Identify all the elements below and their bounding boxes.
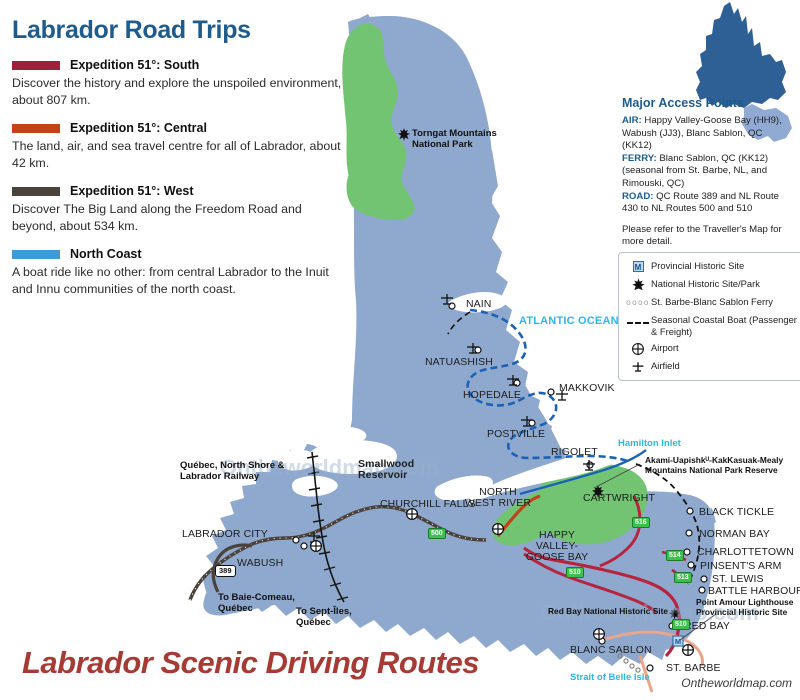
ferry-dots: oooo [626,298,649,307]
route-shield-500: 500 [428,528,446,539]
access-road-label: ROAD: [622,191,653,202]
label-nain: NAIN [466,298,492,310]
label-st-barbe: ST. BARBE [666,662,721,674]
label-qnsl-railway: Québec, North Shore & Labrador Railway [180,460,308,482]
label-labrador-city: LABRADOR CITY [182,528,268,540]
label-strait-of-belle-isle: Strait of Belle Isle [570,672,650,683]
label-black-tickle: BLACK TICKLE [699,506,774,518]
access-note: Please refer to the Traveller's Map for … [622,224,794,249]
legend-row-airport[interactable]: Airport [625,342,800,355]
legend-row-airfield[interactable]: Airfield [625,360,800,373]
ferry-dots-icon: oooo [625,296,651,309]
route-desc-south: Discover the history and explore the uns… [12,75,342,108]
label-churchill-falls: CHURCHILL FALLS [380,498,476,510]
m-badge: M [633,261,644,272]
label-st-lewis: ST. LEWIS [712,573,764,585]
svg-text:M: M [675,637,681,646]
legend-label-national-historic-site: National Historic Site/Park [651,278,760,290]
route-legend-item-central[interactable]: Expedition 51°: Central The land, air, a… [12,121,342,171]
route-name-central: Expedition 51°: Central [70,121,207,135]
label-smallwood-reservoir: Smallwood Reservoir [358,459,420,481]
route-legend-item-north-coast[interactable]: North Coast A boat ride like no other: f… [12,247,342,297]
major-access-points-panel: Major Access Points AIR: Happy Valley-Go… [622,96,794,249]
label-red-bay: RED BAY [684,620,730,632]
routes-legend: Expedition 51°: South Discover the histo… [12,58,342,310]
label-atlantic-ocean: ATLANTIC OCEAN [519,315,619,327]
label-happy-valley-goose-bay: HAPPY VALLEY-GOOSE BAY [518,530,596,563]
route-color-swatch-west [12,187,60,196]
label-charlottetown: CHARLOTTETOWN [697,546,794,558]
label-hamilton-inlet: Hamilton Inlet [618,438,681,449]
page-title: Labrador Road Trips [12,16,251,45]
route-name-north-coast: North Coast [70,247,142,261]
route-desc-central: The land, air, and sea travel centre for… [12,138,342,171]
access-air-line: AIR: Happy Valley-Goose Bay (HH9), Wabus… [622,115,794,153]
access-air-text: Happy Valley-Goose Bay (HH9), Wabush (JJ… [622,115,782,151]
provincial-historic-site-icon: M [625,260,651,273]
maple-leaf-icon [625,278,651,291]
label-cartwright: CARTWRIGHT [583,492,655,504]
legend-label-provincial-historic-site: Provincial Historic Site [651,260,744,272]
label-hopedale: HOPEDALE [463,389,521,401]
access-ferry-line: FERRY: Blanc Sablon, QC (KK12) (seasonal… [622,153,794,191]
airfield-icon [625,360,651,373]
legend-label-ferry: St. Barbe-Blanc Sablon Ferry [651,296,773,308]
label-postville: POSTVILLE [487,428,545,440]
route-shield-513: 513 [674,572,692,583]
legend-label-airfield: Airfield [651,360,680,372]
route-shield-516: 516 [632,517,650,528]
route-desc-north-coast: A boat ride like no other: from central … [12,264,342,297]
airport-icon [625,342,651,355]
map-provincial-historic-marker: M [673,636,683,646]
route-legend-item-west[interactable]: Expedition 51°: West Discover The Big La… [12,184,342,234]
label-norman-bay: NORMAN BAY [699,528,770,540]
access-road-line: ROAD: QC Route 389 and NL Route 430 to N… [622,191,794,216]
access-ferry-label: FERRY: [622,153,657,164]
label-red-bay-national-historic-site: Red Bay National Historic Site [548,606,668,616]
access-points-title: Major Access Points [622,96,794,110]
bottom-title: Labrador Scenic Driving Routes [22,645,479,681]
route-shield-510-b: 510 [672,619,690,630]
route-color-swatch-south [12,61,60,70]
label-pinsents-arm: PINSENT'S ARM [700,560,782,572]
label-makkovik: MAKKOVIK [559,382,615,394]
route-name-west: Expedition 51°: West [70,184,194,198]
label-blanc-sablon: BLANC SABLON [570,644,652,656]
route-color-swatch-central [12,124,60,133]
label-mealy-mountains-park-reserve: Akami-Uapishkᵁ-KakKasuak-Mealy Mountains… [645,455,800,475]
label-natuashish: NATUASHISH [425,356,493,368]
label-rigolet: RIGOLET [551,446,598,458]
route-legend-item-south[interactable]: Expedition 51°: South Discover the histo… [12,58,342,108]
legend-label-seasonal-coastal-boat: Seasonal Coastal Boat (Passenger & Freig… [651,314,800,337]
map-page: M Labrador Road Trips Labrador Scenic Dr… [0,0,800,700]
legend-label-airport: Airport [651,342,679,354]
dashed-line-icon [625,314,651,327]
route-name-south: Expedition 51°: South [70,58,199,72]
access-air-label: AIR: [622,115,642,126]
legend-row-seasonal-coastal-boat[interactable]: Seasonal Coastal Boat (Passenger & Freig… [625,314,800,337]
label-point-amour-lighthouse: Point Amour Lighthouse Provincial Histor… [696,597,798,617]
label-to-sept-iles: To Sept-Îles, Québec [296,606,376,628]
route-color-swatch-north-coast [12,250,60,259]
label-torngat-mountains-national-park: Torngat Mountains National Park [412,128,500,150]
legend-row-national-historic-site[interactable]: National Historic Site/Park [625,278,800,291]
route-desc-west: Discover The Big Land along the Freedom … [12,201,342,234]
legend-row-ferry[interactable]: oooo St. Barbe-Blanc Sablon Ferry [625,296,800,309]
label-wabush: WABUSH [237,557,283,569]
legend-row-provincial-historic-site[interactable]: M Provincial Historic Site [625,260,800,273]
route-shield-514: 514 [666,550,684,561]
symbol-legend-box: M Provincial Historic Site National Hist… [618,252,800,381]
route-shield-389: 389 [215,565,236,577]
route-shield-510-a: 510 [566,567,584,578]
label-battle-harbour: BATTLE HARBOUR [708,585,800,597]
watermark: Ontheworldmap.com [681,676,792,690]
